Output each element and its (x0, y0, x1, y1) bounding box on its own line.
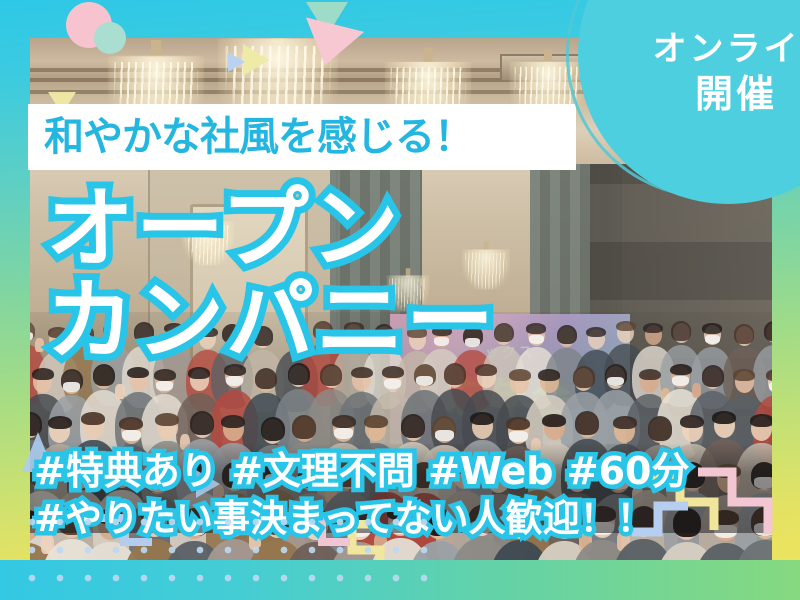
crowd-person-hair (750, 414, 772, 427)
crowd-person-mask (509, 431, 528, 442)
hashtag-line-1: #特典あり #文理不問 #Web #60分 (34, 448, 734, 496)
badge-line-2: 開催 (695, 71, 777, 119)
poster-root: ックス 忘年会 (0, 0, 800, 600)
crowd-person-hair (542, 414, 566, 427)
crowd-person-hair (702, 323, 722, 334)
crowd-person-hair (670, 364, 692, 376)
crowd-person-hair (575, 411, 599, 435)
crowd-person-hair (538, 369, 560, 381)
crowd-person-hair (712, 411, 736, 424)
crowd-person-hair (648, 416, 672, 440)
crowd-person-hair (401, 414, 425, 438)
confetti-triangle-yellow (243, 44, 269, 76)
title-line-1: オープン (46, 186, 666, 272)
crowd-person-hair (613, 416, 637, 429)
crowd-peace-sign (115, 384, 125, 399)
crowd-person-hair (734, 324, 754, 344)
crowd-person-mask (156, 381, 173, 391)
crowd-person-mask (672, 376, 689, 386)
crowd-person-mask (435, 430, 454, 441)
crowd-person-hair (509, 369, 531, 381)
crowd-person-hair (155, 413, 179, 426)
crowd-person-hair (190, 411, 214, 435)
badge-line-1: オンライン (653, 28, 800, 71)
crowd-person-hair (506, 417, 530, 430)
crowd-person-mask (226, 376, 243, 386)
crowd-person-hair (766, 369, 772, 381)
crowd-person-hair (573, 366, 595, 388)
headline-band: 和やかな社風を感じる！ (28, 104, 576, 170)
crowd-person-mask (705, 335, 720, 344)
crowd-person-mask (122, 430, 141, 441)
crowd-person-hair (702, 365, 724, 387)
confetti-triangle-blue (228, 52, 245, 72)
crowd-person-hair (261, 417, 285, 441)
crowd-person-mask (416, 376, 433, 386)
crowd-person-hair (81, 412, 105, 425)
confetti-circle-mint (94, 22, 126, 54)
crowd-person-hair (671, 321, 691, 341)
title-line-2: カンパニー (46, 278, 666, 364)
crowd-person-mask (63, 382, 80, 392)
crowd-person-hair (680, 415, 704, 428)
crowd-person-hair (364, 415, 388, 428)
crowd-person-hair (639, 369, 661, 381)
crowd-person-hair (119, 417, 143, 430)
crowd-person-mask (384, 379, 401, 389)
crowd-person-mask (334, 428, 353, 439)
crowd-peace-sign (35, 338, 44, 352)
crowd-person-hair (470, 412, 494, 425)
crowd-person-hair (221, 415, 245, 428)
crowd-person-hair (332, 415, 356, 428)
crowd-person-hair (292, 415, 316, 439)
crowd-person-hair (733, 369, 755, 381)
headline-text: 和やかな社風を感じる！ (28, 117, 473, 157)
crowd-person-hair (48, 416, 72, 429)
main-title: オープン カンパニー (46, 186, 666, 364)
crowd-person-hair (764, 321, 772, 341)
dot-pattern (18, 508, 438, 600)
